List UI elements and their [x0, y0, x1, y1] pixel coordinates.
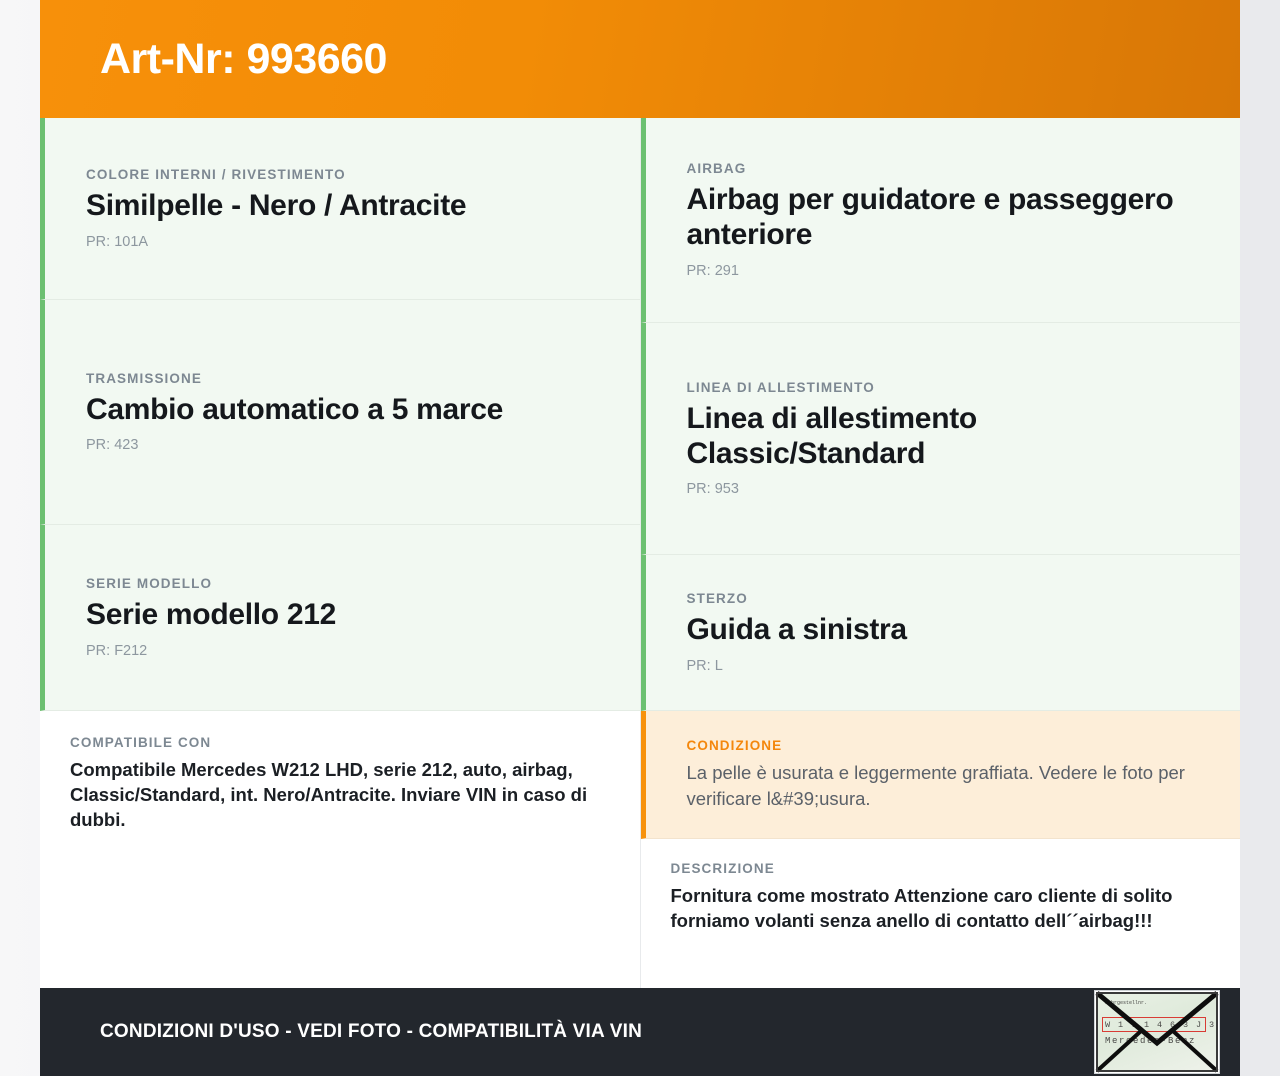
article-number-title: Art-Nr: 993660	[40, 35, 387, 84]
footer-notice: CONDIZIONI D'USO - VEDI FOTO - COMPATIBI…	[100, 1021, 642, 1043]
envelope-outline-icon	[1095, 991, 1219, 1073]
spec-grid: COLORE INTERNI / RIVESTIMENTO Similpelle…	[40, 118, 1240, 988]
spec-label: COLORE INTERNI / RIVESTIMENTO	[86, 167, 594, 182]
spec-value: Cambio automatico a 5 marce	[86, 393, 594, 428]
spec-card-serie-modello: SERIE MODELLO Serie modello 212 PR: F212	[40, 525, 640, 711]
envelope-icon[interactable]: Fahrgestellnr. W 1 7 1 4 6 3 J 3 1 4 9 8…	[1094, 990, 1220, 1074]
spec-pr-code: PR: 953	[687, 481, 1195, 497]
spec-value: Serie modello 212	[86, 598, 594, 633]
spec-label: STERZO	[687, 591, 1195, 606]
spec-label: TRASMISSIONE	[86, 371, 594, 386]
spec-card-trasmissione: TRASMISSIONE Cambio automatico a 5 marce…	[40, 300, 640, 525]
spec-label: SERIE MODELLO	[86, 576, 594, 591]
header-bar: Art-Nr: 993660	[40, 0, 1240, 118]
condition-label: CONDIZIONE	[687, 738, 1195, 753]
spec-pr-code: PR: 101A	[86, 234, 594, 250]
description-text: Fornitura come mostrato Attenzione caro …	[671, 883, 1195, 933]
spec-pr-code: PR: 423	[86, 437, 594, 453]
right-column: AIRBAG Airbag per guidatore e passeggero…	[641, 118, 1241, 988]
spec-value: Airbag per guidatore e passeggero anteri…	[687, 183, 1195, 253]
spec-pr-code: PR: 291	[687, 263, 1195, 279]
compatibility-label: COMPATIBILE CON	[70, 735, 594, 750]
spec-pr-code: PR: L	[687, 658, 1195, 674]
condition-card: CONDIZIONE La pelle è usurata e leggerme…	[641, 711, 1241, 839]
condition-text: La pelle è usurata e leggermente graffia…	[687, 760, 1195, 810]
spec-card-airbag: AIRBAG Airbag per guidatore e passeggero…	[641, 118, 1241, 323]
compatibility-text: Compatibile Mercedes W212 LHD, serie 212…	[70, 757, 594, 832]
spec-value: Linea di allestimento Classic/Standard	[687, 402, 1195, 472]
spec-card-sterzo: STERZO Guida a sinistra PR: L	[641, 555, 1241, 711]
spec-pr-code: PR: F212	[86, 643, 594, 659]
footer-bar: CONDIZIONI D'USO - VEDI FOTO - COMPATIBI…	[40, 988, 1240, 1076]
description-card: DESCRIZIONE Fornitura come mostrato Atte…	[641, 839, 1241, 988]
description-label: DESCRIZIONE	[671, 861, 1195, 876]
spec-value: Guida a sinistra	[687, 613, 1195, 648]
left-column: COLORE INTERNI / RIVESTIMENTO Similpelle…	[40, 118, 641, 988]
compatibility-card: COMPATIBILE CON Compatibile Mercedes W21…	[40, 711, 640, 988]
spec-card-linea-allestimento: LINEA DI ALLESTIMENTO Linea di allestime…	[641, 323, 1241, 555]
spec-label: LINEA DI ALLESTIMENTO	[687, 380, 1195, 395]
product-spec-sheet: Art-Nr: 993660 COLORE INTERNI / RIVESTIM…	[40, 0, 1240, 1076]
spec-label: AIRBAG	[687, 161, 1195, 176]
spec-card-colore-interni: COLORE INTERNI / RIVESTIMENTO Similpelle…	[40, 118, 640, 300]
spec-value: Similpelle - Nero / Antracite	[86, 189, 594, 224]
